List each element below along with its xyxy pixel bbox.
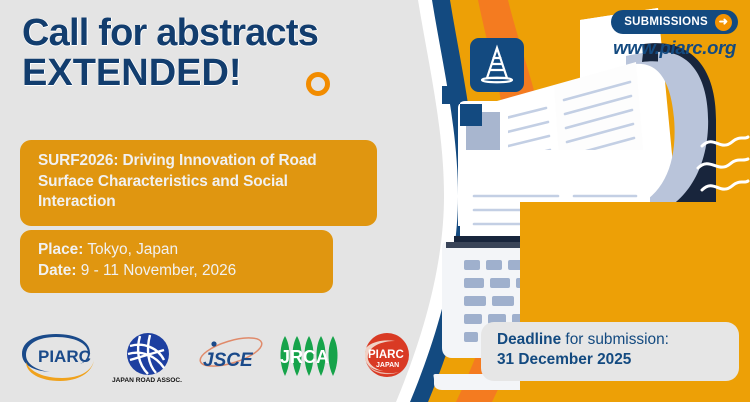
page-title: Call for abstracts EXTENDED! — [22, 14, 442, 93]
logo-jsce-text: JSCE — [203, 350, 254, 371]
deadline-rest: for submission: — [561, 331, 669, 348]
logo-jrca-text: JRCA — [280, 347, 329, 367]
deadline-date: 31 December 2025 — [497, 350, 725, 370]
logo-jra-subtext: JAPAN ROAD ASSOC. — [112, 377, 182, 384]
deadline-line-1: Deadline for submission: — [497, 330, 725, 350]
logo-piarc-japan-subtext: JAPAN — [376, 362, 399, 369]
date-label: Date: — [38, 262, 76, 279]
logo-piarc-text: PIARC — [38, 347, 91, 366]
headline-line-2: EXTENDED! — [22, 54, 442, 94]
call-for-abstracts-banner: Call for abstracts EXTENDED! SURF2026: D… — [0, 0, 750, 402]
partner-logos-row: PIARC JAPAN ROAD ASSOC. JSCE — [16, 326, 426, 388]
place-row: Place: Tokyo, Japan — [38, 240, 317, 261]
place-label: Place: — [38, 241, 83, 258]
orange-ring-decoration — [306, 72, 330, 96]
website-url[interactable]: www.piarc.org — [613, 37, 736, 59]
place-and-date-pill: Place: Tokyo, Japan Date: 9 - 11 Novembe… — [20, 230, 333, 293]
conference-title-pill: SURF2026: Driving Innovation of Road Sur… — [20, 140, 377, 226]
logo-jrca: JRCA — [271, 328, 349, 386]
date-value: 9 - 11 November, 2026 — [81, 262, 236, 279]
logo-piarc: PIARC — [16, 328, 106, 386]
headline-line-1: Call for abstracts — [22, 12, 318, 54]
submissions-label: SUBMISSIONS — [624, 16, 708, 28]
date-row: Date: 9 - 11 November, 2026 — [38, 261, 317, 282]
logo-piarc-japan: PIARC JAPAN — [349, 328, 427, 386]
logo-japan-road-association: JAPAN ROAD ASSOC. — [106, 328, 191, 386]
deadline-pill: Deadline for submission: 31 December 202… — [481, 322, 739, 381]
arrow-right-icon: ➜ — [715, 14, 732, 31]
submissions-button[interactable]: SUBMISSIONS ➜ — [611, 10, 738, 34]
traffic-cone-icon — [470, 38, 524, 92]
deadline-label: Deadline — [497, 331, 561, 348]
place-value: Tokyo, Japan — [87, 241, 178, 258]
logo-jsce: JSCE — [191, 328, 271, 386]
logo-piarc-japan-text: PIARC — [368, 349, 404, 361]
